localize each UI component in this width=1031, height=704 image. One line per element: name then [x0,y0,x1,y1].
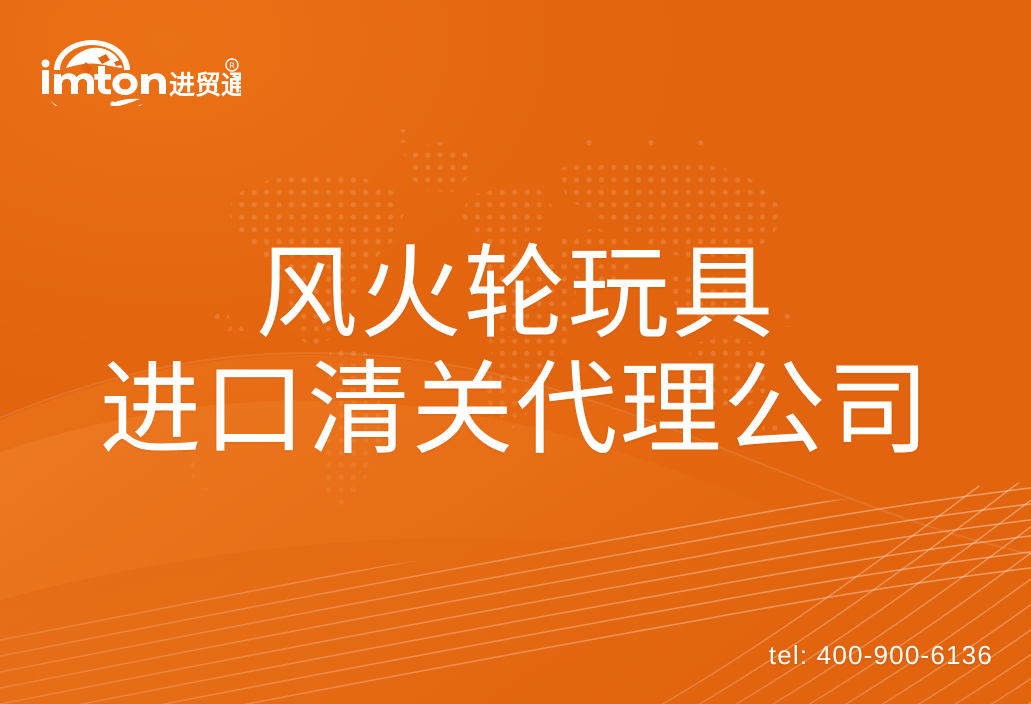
promotional-banner: 进贸通 R 风火轮玩具 进口清关代理公司 tel: 400-900-6136 [0,0,1031,704]
headline-line-1: 风火轮玩具 [0,236,1031,352]
globe-dome-icon [54,40,130,74]
logo-chinese-name: 进贸通 [169,71,241,101]
svg-text:进贸通: 进贸通 [169,71,241,101]
brand-logo[interactable]: 进贸通 R [36,28,241,106]
trademark-icon: R [226,59,238,71]
svg-text:R: R [229,62,235,71]
headline-block: 风火轮玩具 进口清关代理公司 [0,236,1031,468]
contact-phone[interactable]: tel: 400-900-6136 [769,640,993,671]
swoosh-icon [50,99,142,106]
headline-line-2: 进口清关代理公司 [0,352,1031,468]
